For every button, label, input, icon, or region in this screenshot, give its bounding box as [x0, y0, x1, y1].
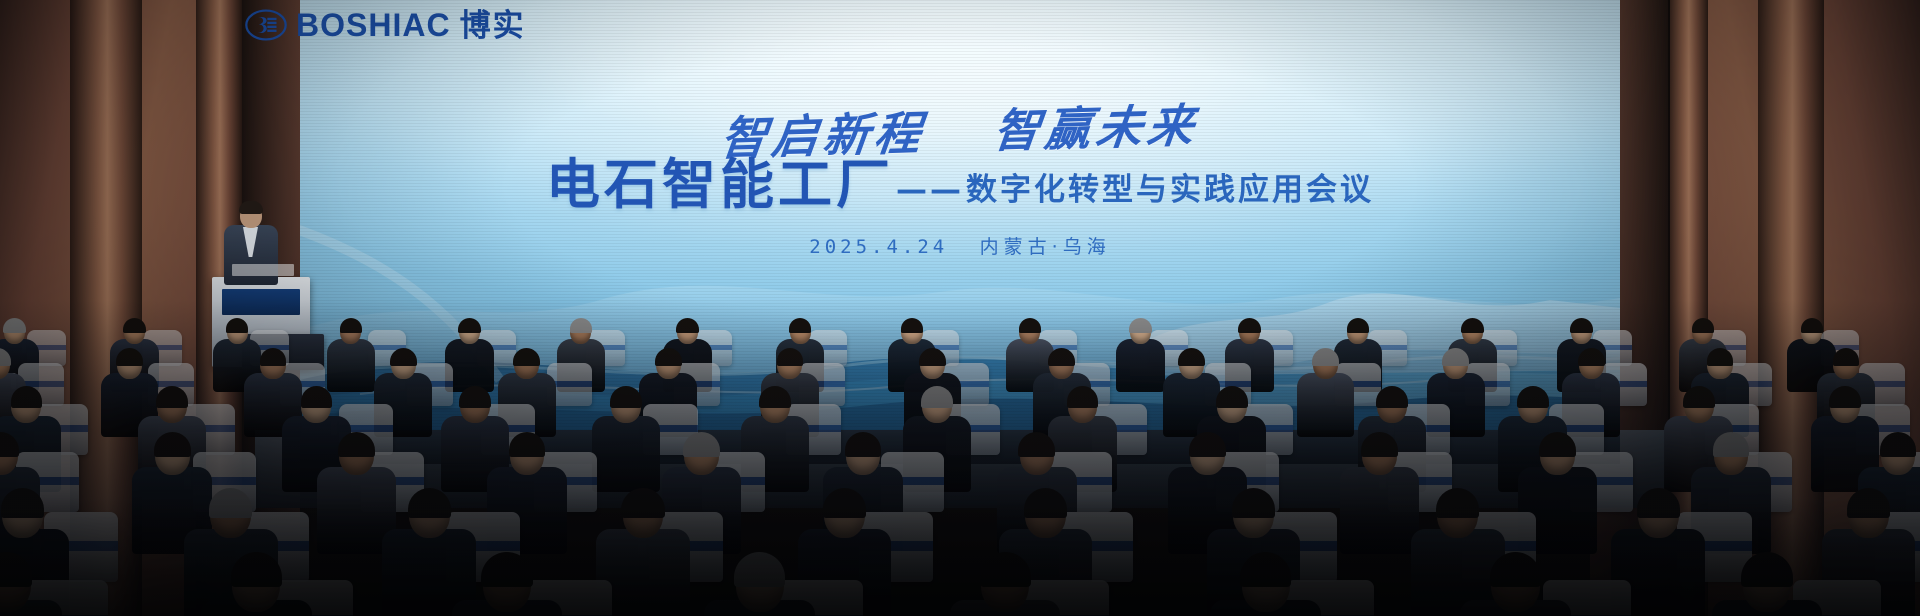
audience-hair	[11, 386, 43, 408]
audience-hair	[610, 386, 642, 408]
audience-hair	[789, 318, 811, 333]
audience-hair	[1024, 488, 1067, 518]
conference-subtitle: 数字化转型与实践应用会议	[966, 175, 1374, 206]
audience-hair	[1880, 432, 1917, 457]
audience-hair	[0, 348, 11, 366]
audience-hair	[481, 552, 532, 587]
audience-member	[1292, 348, 1359, 437]
audience-hair	[1018, 432, 1055, 457]
audience-member	[586, 386, 665, 492]
audience-hair	[1067, 386, 1099, 408]
audience-hair	[1019, 318, 1041, 333]
audience-hair	[338, 432, 375, 457]
conference-photo: BOSHIAC 博实 智启新程 智赢未来 电石智能工厂 —— 数字化转型与实践应…	[0, 0, 1920, 616]
audience-torso	[1297, 373, 1355, 437]
audience-seating	[0, 300, 1920, 616]
audience-hair	[1713, 432, 1750, 457]
audience-hair	[226, 318, 248, 333]
audience-hair	[1216, 386, 1248, 408]
page-title: 电石智能工厂	[546, 158, 894, 212]
brand-latin-name: BOSHIAC	[296, 9, 451, 41]
audience-member	[443, 552, 571, 616]
audience-hair	[260, 348, 287, 366]
brand-logo: BOSHIAC 博实	[245, 4, 526, 46]
audience-hair	[1461, 318, 1483, 333]
audience-hair	[209, 488, 252, 518]
audience-hair	[116, 348, 143, 366]
audience-hair	[0, 552, 32, 587]
audience-hair	[980, 552, 1031, 587]
audience-hair	[1376, 386, 1408, 408]
audience-hair	[1, 488, 44, 518]
audience-hair	[123, 318, 145, 333]
audience-member	[941, 552, 1069, 616]
audience-hair	[1312, 348, 1339, 366]
audience-member	[1202, 552, 1330, 616]
audience-hair	[1829, 386, 1861, 408]
audience-hair	[0, 432, 19, 457]
audience-hair	[1833, 348, 1860, 366]
audience-hair	[1692, 318, 1714, 333]
audience-hair	[1129, 318, 1151, 333]
audience-hair	[3, 318, 25, 333]
audience-hair	[1847, 488, 1890, 518]
audience-member	[1703, 552, 1831, 616]
audience-member	[0, 552, 70, 616]
audience-hair	[390, 348, 417, 366]
audience-hair	[458, 318, 480, 333]
title-dash: ——	[896, 175, 964, 206]
audience-hair	[1801, 318, 1823, 333]
audience-hair	[1240, 552, 1291, 587]
audience-hair	[459, 386, 491, 408]
audience-hair	[1442, 348, 1469, 366]
podium-banner-text	[232, 264, 294, 276]
audience-hair	[1048, 348, 1075, 366]
audience-hair	[408, 488, 451, 518]
audience-hair	[676, 318, 698, 333]
event-date: 2025.4.24	[809, 236, 948, 258]
audience-hair	[759, 386, 791, 408]
audience-hair	[1189, 432, 1226, 457]
audience-member	[1451, 552, 1579, 616]
audience-torso	[592, 416, 661, 492]
audience-hair	[1637, 488, 1680, 518]
audience-hair	[1361, 432, 1398, 457]
audience-hair	[777, 348, 804, 366]
audience-hair	[570, 318, 592, 333]
audience-hair	[340, 318, 362, 333]
audience-hair	[901, 318, 923, 333]
audience-hair	[621, 488, 664, 518]
audience-hair	[823, 488, 866, 518]
audience-member	[696, 552, 824, 616]
audience-hair	[156, 386, 188, 408]
audience-hair	[1517, 386, 1549, 408]
audience-hair	[1570, 318, 1592, 333]
audience-hair	[1707, 348, 1734, 366]
conference-title-block: 电石智能工厂 —— 数字化转型与实践应用会议	[0, 158, 1920, 212]
audience-hair	[1539, 432, 1576, 457]
audience-hair	[231, 552, 282, 587]
audience-hair	[921, 386, 953, 408]
boshiac-oval-logo-icon	[245, 4, 287, 46]
audience-hair	[845, 432, 882, 457]
event-location: 内蒙古·乌海	[980, 236, 1111, 258]
audience-member	[192, 552, 320, 616]
audience-hair	[1232, 488, 1275, 518]
date-location-line: 2025.4.24 内蒙古·乌海	[0, 232, 1920, 259]
brand-chinese-name: 博实	[460, 10, 526, 41]
audience-hair	[919, 348, 946, 366]
audience-hair	[1578, 348, 1605, 366]
audience-hair	[509, 432, 546, 457]
audience-hair	[513, 348, 540, 366]
audience-torso	[327, 339, 375, 392]
audience-hair	[655, 348, 682, 366]
audience-hair	[1178, 348, 1205, 366]
audience-hair	[683, 432, 720, 457]
audience-hair	[1238, 318, 1260, 333]
speaker-hair	[239, 201, 263, 214]
audience-hair	[1436, 488, 1479, 518]
calligraphy-line-2: 智赢未来	[991, 98, 1202, 158]
audience-hair	[1490, 552, 1541, 587]
audience-hair	[1741, 552, 1792, 587]
audience-hair	[154, 432, 191, 457]
audience-hair	[734, 552, 785, 587]
audience-hair	[301, 386, 333, 408]
audience-hair	[1347, 318, 1369, 333]
audience-hair	[1683, 386, 1715, 408]
calligraphy-gap	[945, 148, 971, 149]
